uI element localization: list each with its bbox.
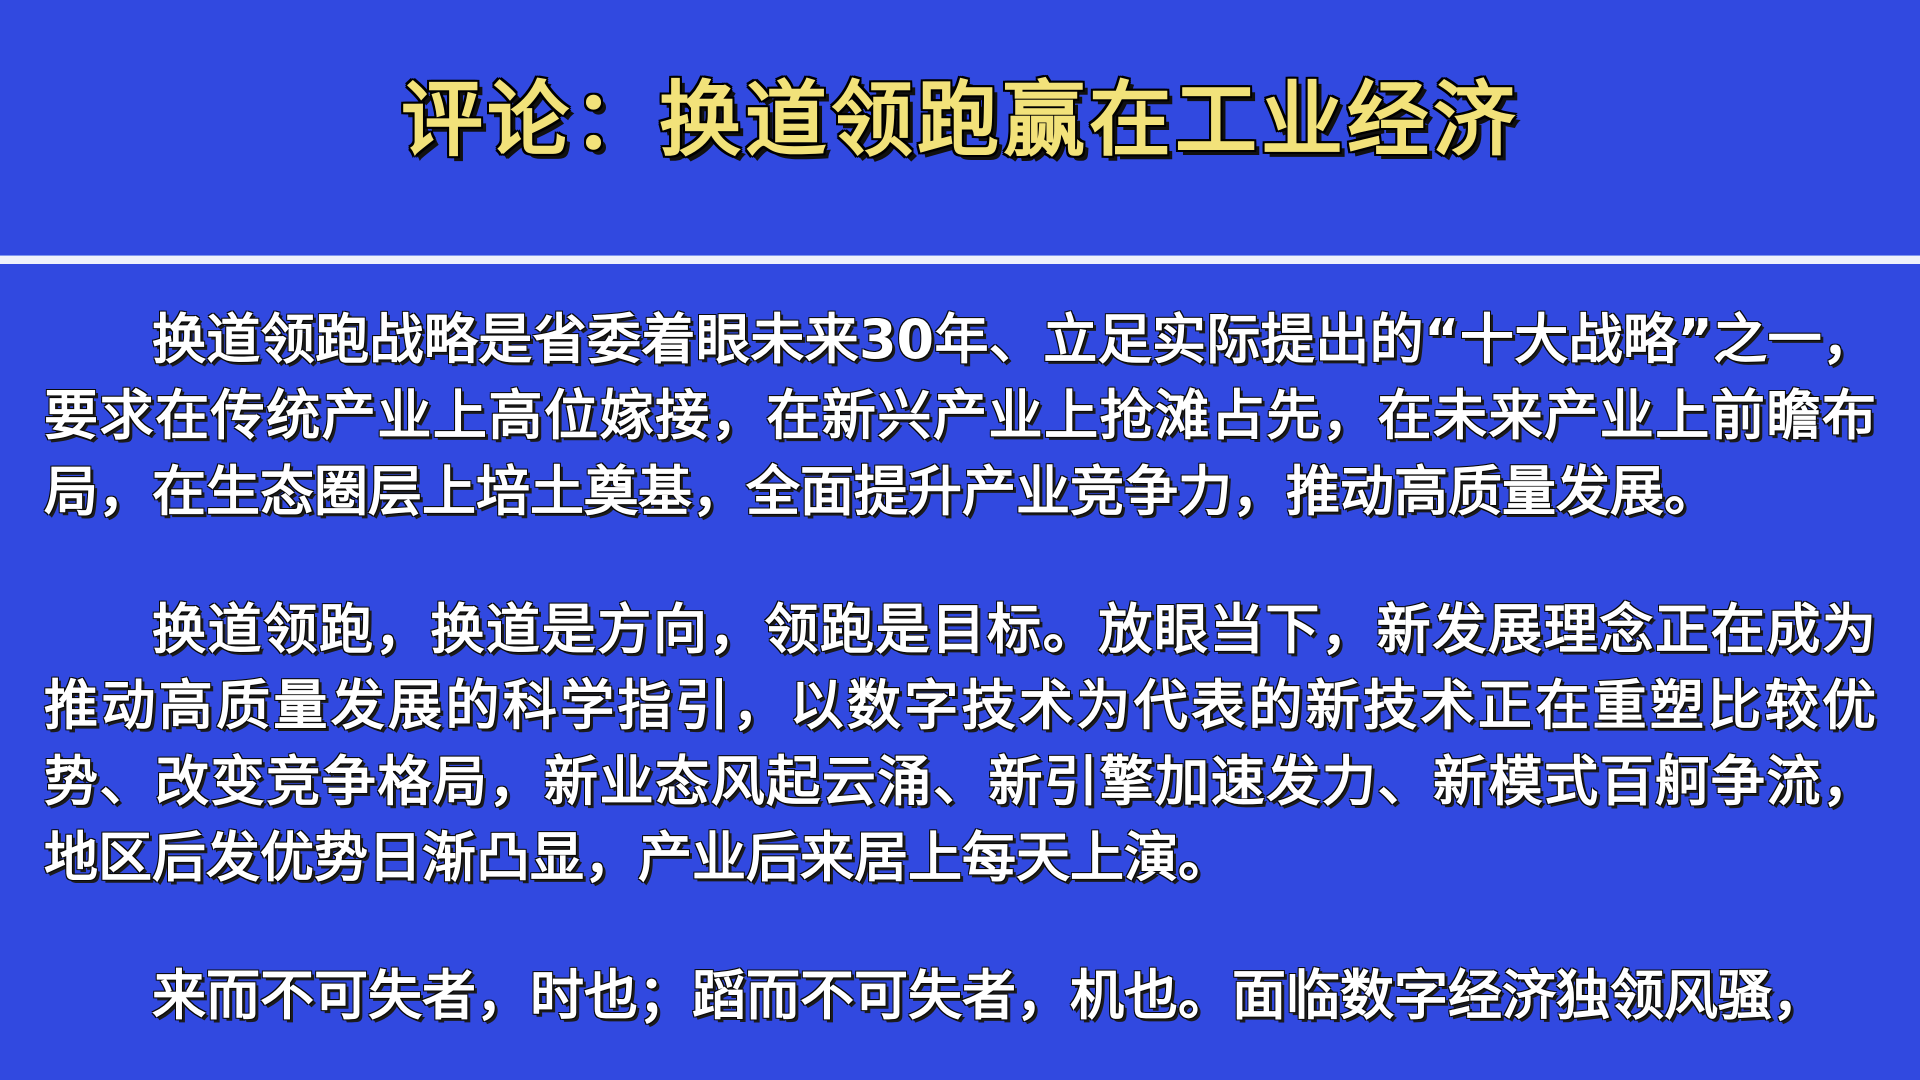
body-paragraph-1: 换道领跑战略是省委着眼未来30年、立足实际提出的“十大战略”之一，要求在传统产业… <box>44 302 1876 530</box>
title-band: 评论：换道领跑赢在工业经济 <box>0 0 1920 255</box>
title-divider-rule <box>0 255 1920 264</box>
body-paragraph-3: 来而不可失者，时也；蹈而不可失者，机也。面临数字经济独领风骚， <box>44 958 1876 1034</box>
body-paragraph-2: 换道领跑，换道是方向，领跑是目标。放眼当下，新发展理念正在成为推动高质量发展的科… <box>44 592 1876 896</box>
slide-canvas: 评论：换道领跑赢在工业经济 换道领跑战略是省委着眼未来30年、立足实际提出的“十… <box>0 0 1920 1080</box>
body-text-area: 换道领跑战略是省委着眼未来30年、立足实际提出的“十大战略”之一，要求在传统产业… <box>0 264 1920 1080</box>
page-title: 评论：换道领跑赢在工业经济 <box>401 80 1519 176</box>
